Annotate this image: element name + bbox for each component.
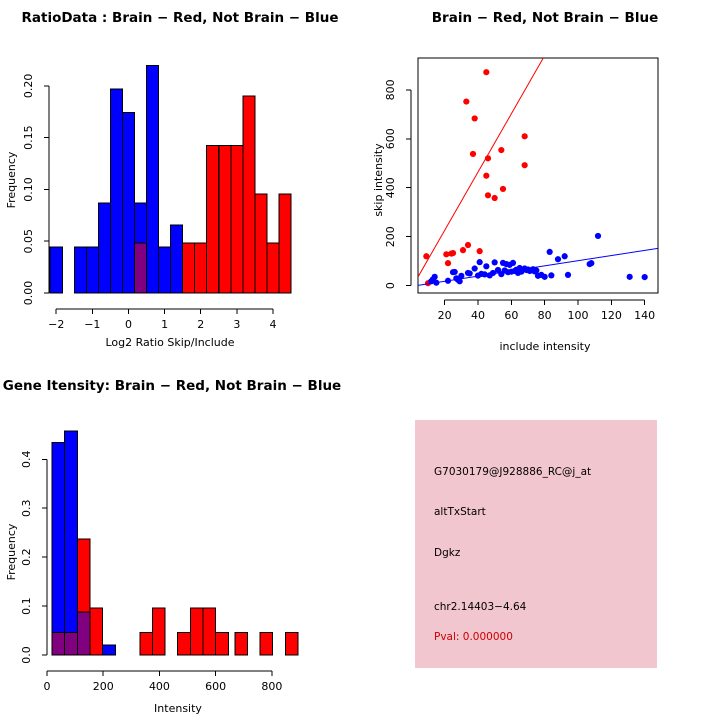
histogram-bar — [203, 608, 216, 655]
tick-label: 0.00 — [22, 281, 35, 306]
histogram-bar — [178, 633, 191, 655]
scatter-point — [500, 186, 506, 192]
scatter-point — [642, 274, 648, 280]
tick-label: 800 — [384, 79, 397, 100]
scatter-point — [477, 248, 483, 254]
scatter-point — [547, 249, 553, 255]
scatter-point — [483, 69, 489, 75]
scatter-xlabel: include intensity — [499, 340, 591, 353]
scatter-point — [445, 260, 451, 266]
histogram-bar — [90, 608, 103, 655]
scatter-point — [548, 272, 554, 278]
scatter-point — [542, 274, 548, 280]
histogram-bar — [260, 633, 273, 655]
gene-histogram-title: Gene Itensity: Brain − Red, Not Brain − … — [3, 378, 341, 394]
tick-label: 0.1 — [20, 597, 33, 615]
scatter-point — [533, 267, 539, 273]
tick-label: 600 — [384, 128, 397, 149]
scatter-point — [627, 274, 633, 280]
scatter-point — [472, 115, 478, 121]
tick-label: 20 — [438, 309, 452, 322]
histogram-bar — [65, 431, 78, 655]
histogram-bar — [285, 633, 298, 655]
tick-label: 0 — [125, 318, 132, 331]
tick-label: 60 — [504, 309, 518, 322]
histogram-bar — [52, 633, 65, 655]
scatter-point — [477, 259, 483, 265]
scatter-point — [565, 272, 571, 278]
scatter-point — [463, 98, 469, 104]
histogram-bar — [255, 194, 267, 293]
histogram-bar — [147, 66, 159, 293]
histogram-bar — [122, 112, 134, 293]
histogram-bar — [279, 194, 291, 293]
scatter-point — [458, 273, 464, 279]
histogram-bar — [235, 633, 248, 655]
info-probe-id: G7030179@J928886_RC@j_at — [434, 466, 591, 478]
histogram-bar — [98, 203, 110, 293]
gene-histogram-xlabel: Intensity — [154, 702, 202, 715]
histogram-bar — [171, 225, 183, 293]
histogram-bar — [74, 247, 86, 293]
scatter-point — [522, 162, 528, 168]
ratio-histogram-xlabel: Log2 Ratio Skip/Include — [105, 336, 234, 349]
info-gene-symbol: Dgkz — [434, 547, 461, 559]
tick-label: 0.2 — [20, 548, 33, 566]
scatter-point — [465, 242, 471, 248]
scatter-point — [460, 247, 466, 253]
histogram-bar — [110, 89, 122, 293]
tick-label: 400 — [384, 177, 397, 198]
histogram-bar — [140, 633, 153, 655]
scatter-point — [450, 250, 456, 256]
info-locus: chr2.14403−4.64 — [434, 601, 527, 613]
scatter-point — [588, 260, 594, 266]
tick-label: 2 — [197, 318, 204, 331]
info-pval: Pval: 0.000000 — [434, 631, 513, 643]
histogram-bar — [243, 96, 255, 293]
histogram-bar — [103, 645, 116, 655]
tick-label: 400 — [149, 680, 170, 693]
histogram-bar — [77, 612, 90, 655]
histogram-bar — [50, 247, 62, 293]
tick-label: 0.0 — [20, 646, 33, 664]
tick-label: 1 — [161, 318, 168, 331]
histogram-bar — [134, 243, 146, 293]
info-event-type: altTxStart — [434, 506, 486, 518]
histogram-bar — [216, 633, 229, 655]
scatter-point — [467, 270, 473, 276]
tick-label: 0 — [384, 282, 397, 289]
tick-label: 0.15 — [22, 125, 35, 150]
tick-label: 80 — [538, 309, 552, 322]
tick-label: 800 — [261, 680, 282, 693]
scatter-point — [492, 259, 498, 265]
scatter-title: Brain − Red, Not Brain − Blue — [432, 10, 658, 26]
tick-label: 0.10 — [22, 177, 35, 202]
histogram-bar — [190, 608, 203, 655]
histogram-bar — [267, 243, 279, 293]
gene-histogram-ylabel: Frequency — [5, 523, 18, 580]
scatter-point — [470, 151, 476, 157]
scatter-point — [562, 253, 568, 259]
tick-label: 4 — [269, 318, 276, 331]
scatter-point — [452, 269, 458, 275]
ratio-histogram-ylabel: Frequency — [5, 151, 18, 208]
histogram-bar — [86, 247, 98, 293]
histogram-bar — [52, 443, 65, 655]
scatter-point — [485, 155, 491, 161]
histogram-bar — [183, 243, 195, 293]
tick-label: 120 — [601, 309, 622, 322]
tick-label: 40 — [471, 309, 485, 322]
tick-label: 0.05 — [22, 229, 35, 254]
tick-label: 200 — [384, 226, 397, 247]
scatter-point — [555, 256, 561, 262]
scatter-point — [595, 233, 601, 239]
scatter-ylabel: skip intensity — [372, 143, 385, 217]
tick-label: 0.3 — [20, 499, 33, 517]
scatter-point — [445, 278, 451, 284]
histogram-bar — [65, 633, 78, 655]
scatter-point — [483, 263, 489, 269]
scatter-point — [483, 173, 489, 179]
scatter-point — [432, 274, 438, 280]
tick-label: 600 — [205, 680, 226, 693]
tick-label: 0.4 — [20, 451, 33, 469]
scatter-point — [472, 265, 478, 271]
tick-label: 100 — [568, 309, 589, 322]
figure-canvas: RatioData : Brain − Red, Not Brain − Blu… — [0, 0, 720, 720]
tick-label: 140 — [634, 309, 655, 322]
scatter-point — [522, 133, 528, 139]
tick-label: 200 — [93, 680, 114, 693]
histogram-bar — [219, 145, 231, 293]
scatter-point — [485, 192, 491, 198]
scatter-point — [498, 147, 504, 153]
tick-label: 0.20 — [22, 74, 35, 99]
panel-info: G7030179@J928886_RC@j_at altTxStart Dgkz… — [415, 420, 657, 668]
histogram-bar — [159, 247, 171, 293]
scatter-point — [457, 278, 463, 284]
scatter-point — [492, 195, 498, 201]
scatter-point — [423, 253, 429, 259]
histogram-bar — [195, 243, 207, 293]
tick-label: −2 — [48, 318, 64, 331]
histogram-bar — [152, 608, 165, 655]
histogram-bar — [231, 145, 243, 293]
scatter-point — [433, 280, 439, 286]
scatter-point — [510, 260, 516, 266]
tick-label: 3 — [233, 318, 240, 331]
tick-label: −1 — [84, 318, 100, 331]
histogram-bar — [207, 145, 219, 293]
ratio-histogram-title: RatioData : Brain − Red, Not Brain − Blu… — [21, 10, 338, 26]
tick-label: 0 — [44, 680, 51, 693]
